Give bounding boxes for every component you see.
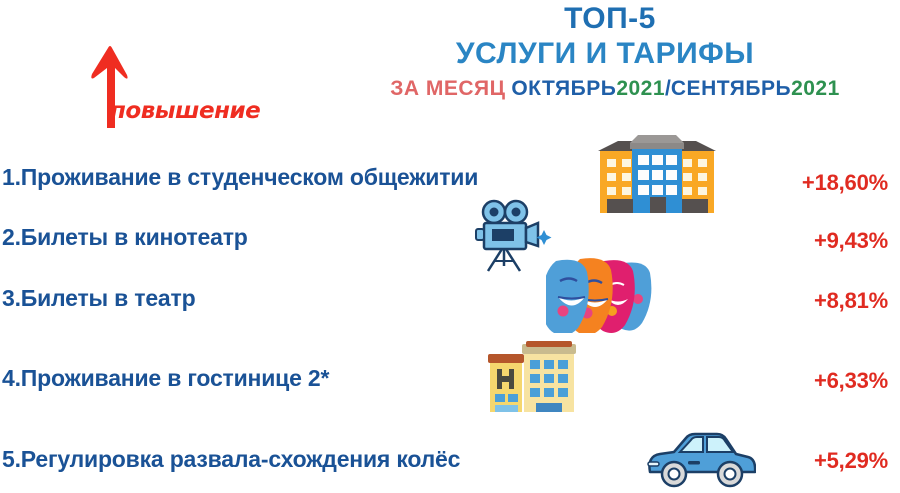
subtitle-period: ЗА МЕСЯЦ: [390, 77, 505, 100]
subtitle-month-current: ОКТЯБРЬ: [511, 77, 616, 100]
item-label-1: 1.Проживание в студенческом общежитии: [2, 164, 478, 191]
car-icon: [644, 428, 756, 493]
item-label-5: 5.Регулировка развала-схождения колёс: [2, 446, 460, 473]
infographic-canvas: ТОП-5 УСЛУГИ И ТАРИФЫ ЗА МЕСЯЦ ОКТЯБРЬ20…: [0, 0, 900, 488]
item-label-3: 3.Билеты в театр: [2, 285, 195, 312]
theater-masks-icon: [546, 255, 660, 338]
increase-annotation: повышение: [60, 38, 290, 130]
subtitle-year-previous: 2021: [791, 77, 840, 100]
increase-label: повышение: [110, 98, 260, 124]
item-label-2: 2.Билеты в кинотеатр: [2, 224, 248, 251]
item-value-2: +9,43%: [814, 228, 888, 254]
subtitle: ЗА МЕСЯЦ ОКТЯБРЬ2021/СЕНТЯБРЬ2021: [330, 76, 900, 102]
movie-camera-icon: [468, 198, 554, 277]
item-value-4: +6,33%: [814, 368, 888, 394]
page-title-main: УСЛУГИ И ТАРИФЫ: [310, 36, 900, 72]
hotel-building-icon: [484, 338, 580, 417]
subtitle-year-current: 2021: [616, 77, 665, 100]
item-value-1: +18,60%: [802, 170, 888, 196]
item-value-5: +5,29%: [814, 448, 888, 474]
apartment-building-icon: [598, 133, 716, 218]
page-title-top: ТОП-5: [320, 2, 900, 36]
subtitle-month-previous: СЕНТЯБРЬ: [671, 77, 791, 100]
header: ТОП-5 УСЛУГИ И ТАРИФЫ ЗА МЕСЯЦ ОКТЯБРЬ20…: [300, 2, 900, 102]
item-value-3: +8,81%: [814, 288, 888, 314]
item-label-4: 4.Проживание в гостинице 2*: [2, 365, 329, 392]
